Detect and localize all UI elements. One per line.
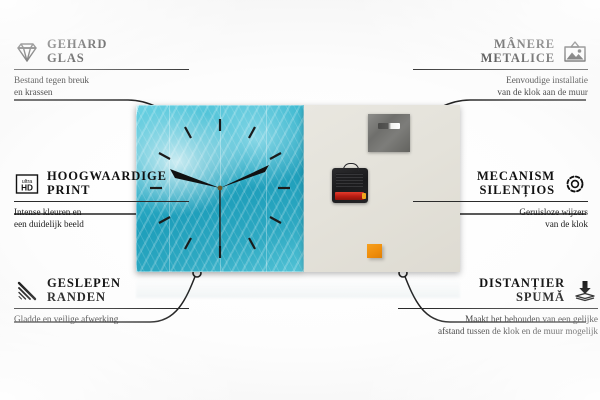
feature-description: Geruisloze wijzers van de klok [413,206,588,231]
feature-title-line: MÂNERE [494,38,555,52]
spacer-press-icon [572,279,598,303]
divider [14,201,189,202]
feature-mecanism-silentios: MECANISM SILENȚIOS Geruisloze wijzers va… [413,170,588,231]
gear-icon [562,172,588,196]
metal-hanger-plate [368,114,410,152]
battery-terminal [362,193,366,199]
feature-title-line: SILENȚIOS [480,184,556,198]
feature-title-line: DISTANȚIER [479,277,565,291]
feature-description: Eenvoudige installatie van de klok aan d… [413,74,588,99]
divider [14,308,189,309]
feature-title-line: RANDEN [47,291,121,305]
hanger-keyhole-slot [378,123,400,129]
divider [398,308,598,309]
feature-distantier-spuma: DISTANȚIER SPUMĂ Maakt het behouden van … [398,277,598,338]
feature-title-line: PRINT [47,184,167,198]
minute-hand [220,165,269,188]
mechanism-grill [336,173,363,187]
feature-title-line: HOOGWAARDIGE [47,170,167,184]
feature-title-line: METALICE [481,52,555,66]
feature-manere-metalice: MÂNERE METALICE Eenvoudige installatie v… [413,38,588,99]
bevelled-edges-icon [14,279,40,303]
divider [413,201,588,202]
feature-title-line: GEHARD [47,38,107,52]
clock-mechanism [332,168,368,203]
infographic-stage: GEHARD GLAS Bestand tegen breuk en krass… [0,0,600,400]
feature-geslepen-randen: GESLEPEN RANDEN Gladde en veilige afwerk… [14,277,189,325]
feature-hoogwaardige-print: ultra HD HOOGWAARDIGE PRINT Intense kleu… [14,170,189,231]
feature-description: Gladde en veilige afwerking [14,313,189,325]
feature-title-line: GLAS [47,52,107,66]
diamond-icon [14,40,40,64]
feature-description: Intense kleuren en een duidelijk beeld [14,206,189,231]
divider [14,69,189,70]
ultra-hd-icon: ultra HD [14,172,40,196]
foam-spacer [367,244,382,258]
feature-gehard-glas: GEHARD GLAS Bestand tegen breuk en krass… [14,38,189,99]
mechanism-hook [343,163,359,171]
svg-text:HD: HD [21,183,33,192]
battery [335,192,364,200]
feature-description: Maakt het behouden van een gelijke afsta… [398,313,598,338]
divider [413,69,588,70]
feature-title-line: GESLEPEN [47,277,121,291]
hand-pivot [218,186,223,191]
feature-title-line: MECANISM [477,170,555,184]
picture-frame-icon [562,40,588,64]
feature-title-line: SPUMĂ [516,291,565,305]
feature-description: Bestand tegen breuk en krassen [14,74,189,99]
